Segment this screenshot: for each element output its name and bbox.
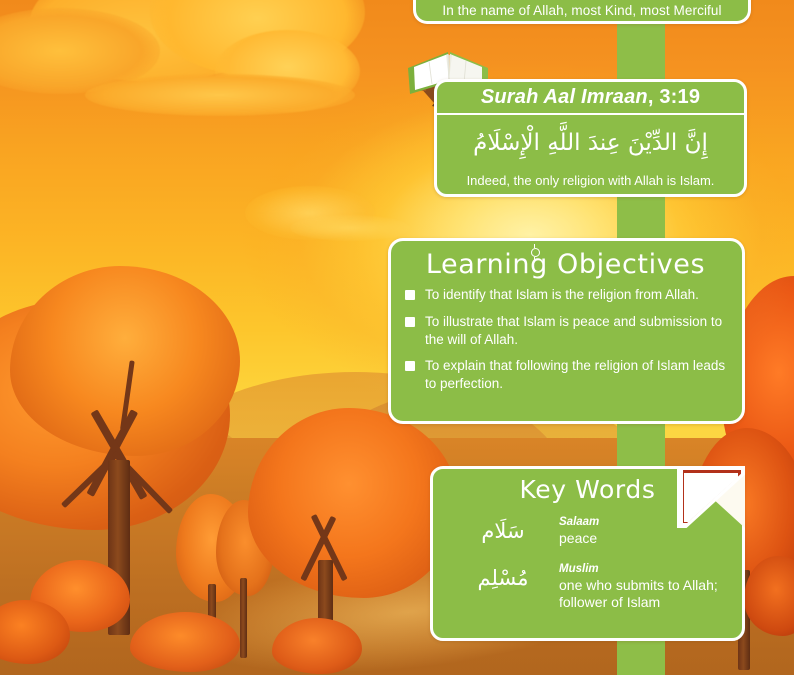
checkbox-icon[interactable] xyxy=(405,317,415,327)
cloud xyxy=(85,74,355,116)
objectives-list: To identify that Islam is the religion f… xyxy=(405,286,726,393)
key-word-meaning: peace xyxy=(559,530,728,548)
surah-reference: , 3:19 xyxy=(648,86,700,109)
verse-translation: Indeed, the only religion with Allah is … xyxy=(437,170,744,194)
list-item: To identify that Islam is the religion f… xyxy=(405,286,726,304)
shrub xyxy=(130,612,240,672)
objective-text: To explain that following the religion o… xyxy=(425,357,726,393)
cloud xyxy=(290,215,410,241)
key-word-transliteration: Muslim xyxy=(559,562,728,577)
key-word-meaning: one who submits to Allah; follower of Is… xyxy=(559,577,728,612)
bismillah-banner: In the name of Allah, most Kind, most Me… xyxy=(413,0,751,24)
verse-arabic-text: إِنَّ الدِّيْنَ عِندَ اللَّهِ الْإِسْلَا… xyxy=(437,115,744,170)
checkbox-icon[interactable] xyxy=(405,361,415,371)
key-word-entry: مُسْلِم Muslim one who submits to Allah;… xyxy=(447,562,728,612)
folded-corner-icon xyxy=(677,466,745,528)
tree-trunk xyxy=(240,578,247,658)
key-word-arabic: سَلَام xyxy=(447,515,559,543)
objective-text: To illustrate that Islam is peace and su… xyxy=(425,313,726,349)
learning-objectives-title: Learning Objectives xyxy=(405,249,726,280)
shrub xyxy=(272,618,362,674)
key-words-card: Key Words سَلَام Salaam peace مُسْلِم Mu… xyxy=(430,466,745,641)
bismillah-text: In the name of Allah, most Kind, most Me… xyxy=(442,4,721,18)
key-word-definition: Muslim one who submits to Allah; followe… xyxy=(559,562,728,612)
checkbox-icon[interactable] xyxy=(405,290,415,300)
learning-objectives-title-text: Learning Objectives xyxy=(426,249,705,280)
tree-canopy xyxy=(248,408,458,598)
list-item: To illustrate that Islam is peace and su… xyxy=(405,313,726,349)
objective-text: To identify that Islam is the religion f… xyxy=(425,286,699,304)
lesson-page: In the name of Allah, most Kind, most Me… xyxy=(0,0,794,675)
surah-name: Surah Aal Imraan xyxy=(481,86,648,109)
learning-objectives-card: Learning Objectives To identify that Isl… xyxy=(388,238,745,424)
key-word-arabic: مُسْلِم xyxy=(447,562,559,590)
surah-title: Surah Aal Imraan, 3:19 xyxy=(437,82,744,115)
sparkle-dot-icon xyxy=(528,245,542,259)
quran-verse-card: Surah Aal Imraan, 3:19 إِنَّ الدِّيْنَ ع… xyxy=(434,79,747,197)
list-item: To explain that following the religion o… xyxy=(405,357,726,393)
